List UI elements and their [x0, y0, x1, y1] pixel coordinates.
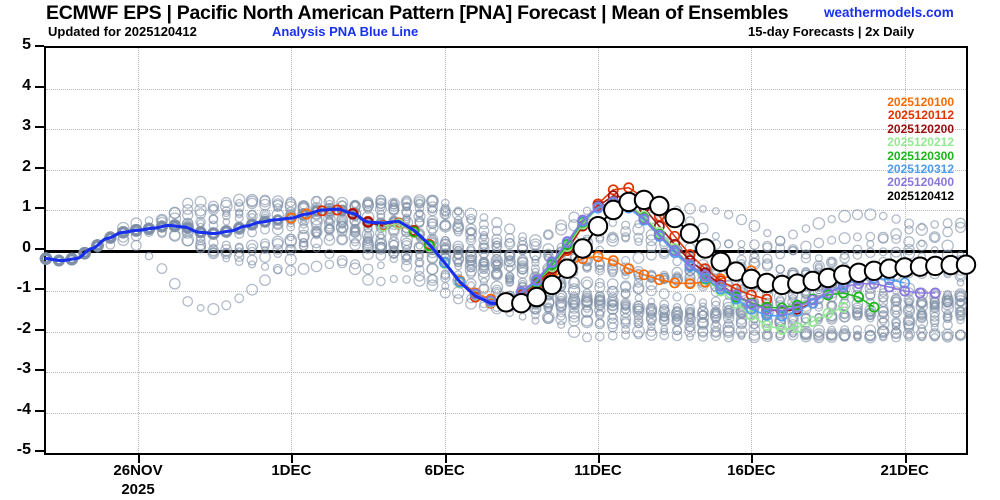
x-tick-label: 6DEC: [425, 462, 465, 479]
y-tick-label: -1: [1, 279, 31, 297]
legend-item[interactable]: 2025120212: [887, 136, 954, 149]
y-tick-label: 1: [1, 198, 31, 216]
y-tick-mark: [35, 167, 44, 169]
y-tick-mark: [35, 207, 44, 209]
y-tick-label: -4: [1, 401, 31, 419]
x-tick-label: 21DEC: [880, 462, 928, 479]
forecast-cadence: 15-day Forecasts | 2x Daily: [748, 24, 914, 39]
legend-item[interactable]: 2025120112: [887, 109, 954, 122]
y-tick-mark: [35, 288, 44, 290]
y-axis: 543210-1-2-3-4-5: [0, 46, 44, 455]
plot-area: 2025120100202512011220251202002025120212…: [44, 46, 968, 455]
y-tick-mark: [35, 126, 44, 128]
y-tick-label: -5: [1, 441, 31, 459]
y-tick-mark: [35, 248, 44, 250]
legend-item[interactable]: 2025120400: [887, 176, 954, 189]
legend-item[interactable]: 2025120312: [887, 163, 954, 176]
x-tick-label: 26NOV: [113, 462, 162, 479]
x-tick-label: 16DEC: [727, 462, 775, 479]
y-tick-mark: [35, 45, 44, 47]
chart-lines: [46, 48, 966, 453]
chart-screenshot: ECMWF EPS | Pacific North American Patte…: [0, 0, 1000, 500]
y-tick-mark: [35, 410, 44, 412]
updated-label: Updated for 2025120412: [48, 24, 197, 39]
y-tick-mark: [35, 329, 44, 331]
y-tick-label: 2: [1, 158, 31, 176]
analysis-note: Analysis PNA Blue Line: [272, 24, 418, 39]
y-tick-mark: [35, 369, 44, 371]
x-axis-year: 2025: [121, 481, 154, 498]
y-tick-label: -2: [1, 320, 31, 338]
y-tick-label: 5: [1, 36, 31, 54]
y-tick-mark: [35, 86, 44, 88]
brand-link[interactable]: weathermodels.com: [824, 5, 954, 20]
y-tick-label: 4: [1, 77, 31, 95]
y-tick-label: -3: [1, 360, 31, 378]
legend-item[interactable]: 2025120200: [887, 123, 954, 136]
legend-item[interactable]: 2025120300: [887, 150, 954, 163]
y-tick-label: 3: [1, 117, 31, 135]
x-tick-label: 11DEC: [574, 462, 622, 479]
legend-item[interactable]: 2025120100: [887, 96, 954, 109]
y-tick-mark: [35, 450, 44, 452]
legend-item[interactable]: 2025120412: [887, 190, 954, 203]
y-tick-label: 0: [1, 239, 31, 257]
legend: 2025120100202512011220251202002025120212…: [887, 96, 954, 203]
page-title: ECMWF EPS | Pacific North American Patte…: [46, 2, 788, 25]
x-tick-label: 1DEC: [271, 462, 311, 479]
